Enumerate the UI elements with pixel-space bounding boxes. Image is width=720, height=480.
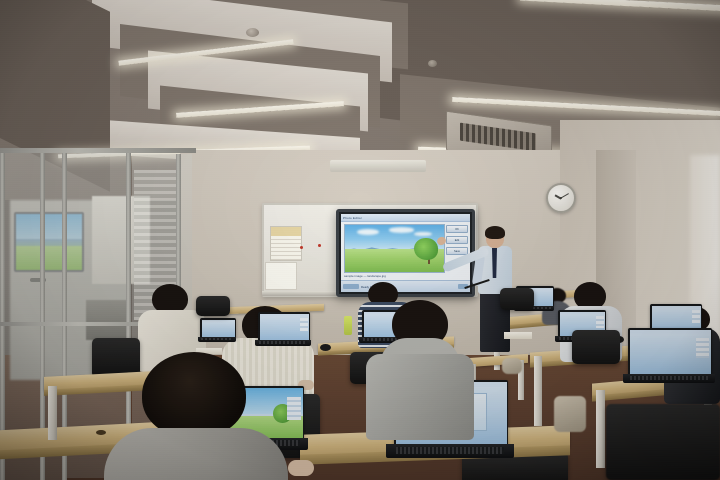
laptop-screen[interactable] bbox=[630, 330, 711, 375]
desk-leg bbox=[48, 386, 57, 440]
landscape-photo bbox=[344, 224, 445, 273]
computer-mouse[interactable] bbox=[320, 344, 331, 351]
laptop-screen[interactable] bbox=[260, 314, 309, 341]
instructor-tie bbox=[492, 248, 497, 278]
tool-panel[interactable]: OK Edit Save bbox=[445, 221, 470, 281]
student-torso bbox=[104, 428, 288, 480]
office-chair[interactable] bbox=[196, 296, 230, 316]
floor-bag bbox=[502, 358, 522, 374]
office-chair[interactable] bbox=[572, 330, 620, 364]
tool-button-edit[interactable]: Edit bbox=[446, 236, 468, 244]
desk-leg bbox=[534, 356, 542, 426]
student-torso bbox=[366, 354, 474, 440]
stack-of-papers bbox=[504, 332, 532, 339]
drink-bottle bbox=[344, 316, 352, 335]
clock-pivot bbox=[560, 197, 562, 199]
canvas-area: sample image — landscape.jpg bbox=[341, 221, 445, 281]
pinned-notice bbox=[265, 262, 297, 290]
glass-header-rail bbox=[0, 148, 196, 153]
wall-calendar bbox=[270, 226, 302, 261]
student-gray-hoodie bbox=[366, 300, 474, 430]
wall-clock bbox=[546, 183, 576, 213]
app-title: Photo Editor bbox=[343, 216, 362, 220]
smoke-detector bbox=[246, 28, 259, 37]
classroom-photo: Photo Editor sample image — landscape.j bbox=[0, 0, 720, 480]
student-hand bbox=[288, 460, 314, 476]
red-pin-2 bbox=[318, 244, 321, 247]
office-chair[interactable] bbox=[500, 288, 534, 310]
red-pin-1 bbox=[300, 246, 303, 249]
student-front-gray-sweater bbox=[112, 352, 280, 480]
instructor-hair bbox=[485, 226, 505, 239]
photo-caption: sample image — landscape.jpg bbox=[344, 274, 443, 278]
office-chair[interactable] bbox=[606, 404, 720, 480]
app-body: sample image — landscape.jpg OK Edit Sav… bbox=[341, 221, 470, 281]
wall-ac-unit bbox=[330, 160, 426, 172]
tool-button-ok[interactable]: OK bbox=[446, 225, 468, 233]
display-screen[interactable]: Photo Editor sample image — landscape.j bbox=[341, 214, 470, 292]
laptop-screen[interactable] bbox=[202, 320, 235, 338]
sprinkler-head bbox=[428, 60, 437, 67]
clock-minute-hand bbox=[561, 193, 570, 199]
student-head bbox=[142, 352, 246, 438]
desk-cable-hole bbox=[96, 430, 106, 435]
desk-leg bbox=[596, 390, 605, 468]
status-chip bbox=[343, 284, 359, 289]
floor-bag bbox=[554, 396, 586, 432]
